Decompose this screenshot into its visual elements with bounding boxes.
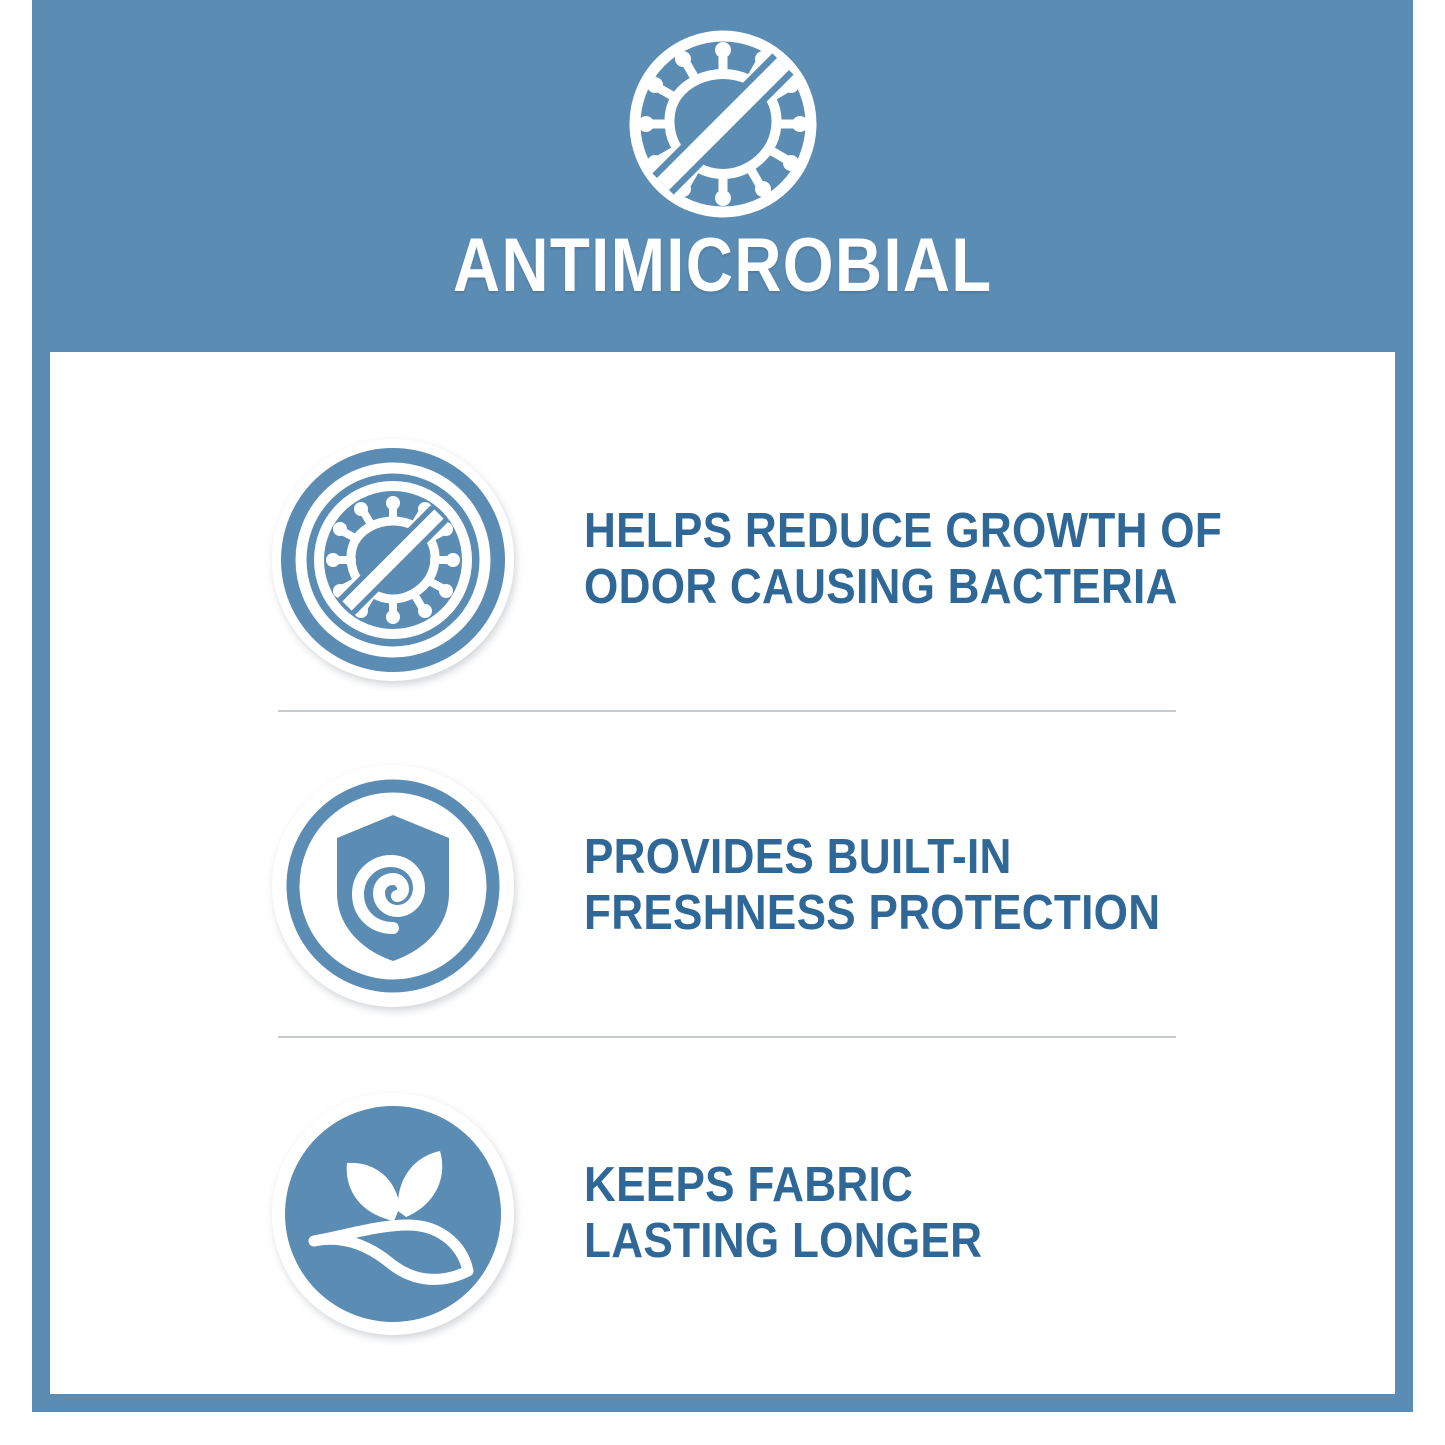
- feature-line-2: FRESHNESS PROTECTION: [584, 886, 1160, 942]
- feature-row: HELPS REDUCE GROWTH OF ODOR CAUSING BACT…: [50, 410, 1395, 710]
- feature-line-1: HELPS REDUCE GROWTH OF: [584, 504, 1222, 560]
- feature-text-3: KEEPS FABRIC LASTING LONGER: [584, 1158, 982, 1270]
- infographic-canvas: ANTIMICROBIAL: [0, 0, 1445, 1445]
- feature-line-2: LASTING LONGER: [584, 1214, 982, 1270]
- feature-icon-badge-3: [272, 1093, 514, 1335]
- feature-line-1: PROVIDES BUILT-IN: [584, 830, 1160, 886]
- feature-line-1: KEEPS FABRIC: [584, 1158, 982, 1214]
- feature-icon-badge-2: [272, 765, 514, 1007]
- feature-text-2: PROVIDES BUILT-IN FRESHNESS PROTECTION: [584, 830, 1160, 942]
- features-panel: HELPS REDUCE GROWTH OF ODOR CAUSING BACT…: [50, 352, 1395, 1394]
- divider: [278, 1036, 1176, 1038]
- feature-text-1: HELPS REDUCE GROWTH OF ODOR CAUSING BACT…: [584, 504, 1222, 616]
- leaf-fabric-icon: [272, 1093, 514, 1335]
- page-title: ANTIMICROBIAL: [453, 228, 993, 304]
- shield-swirl-icon: [272, 765, 514, 1007]
- divider: [278, 710, 1176, 712]
- feature-row: PROVIDES BUILT-IN FRESHNESS PROTECTION: [50, 736, 1395, 1036]
- no-bacteria-icon: [272, 439, 514, 681]
- no-bacteria-icon: [623, 24, 823, 224]
- header-band: ANTIMICROBIAL: [32, 0, 1413, 352]
- feature-icon-badge-1: [272, 439, 514, 681]
- feature-row: KEEPS FABRIC LASTING LONGER: [50, 1064, 1395, 1364]
- feature-line-2: ODOR CAUSING BACTERIA: [584, 560, 1222, 616]
